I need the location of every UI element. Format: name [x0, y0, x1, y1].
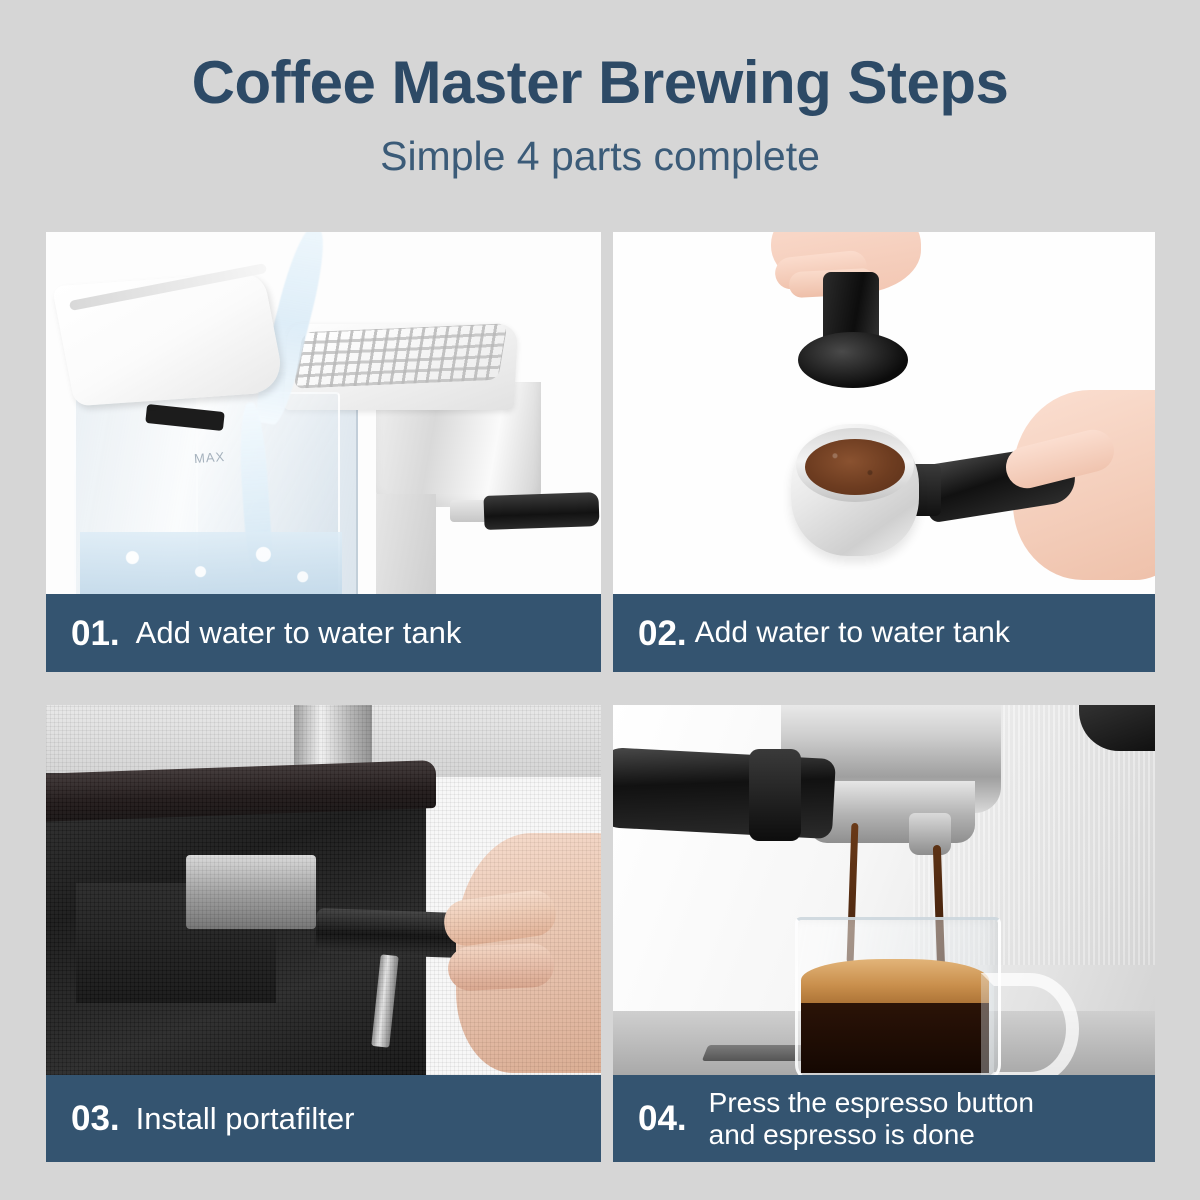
- infographic-page: Coffee Master Brewing Steps Simple 4 par…: [0, 0, 1200, 1200]
- step-number-03: 03.: [71, 1101, 120, 1136]
- step-text-04-line-2: and espresso is done: [709, 1119, 975, 1150]
- step-photo-03: [46, 705, 601, 1075]
- step-number-01: 01.: [71, 616, 120, 651]
- step-text-04: Press the espresso button and espresso i…: [709, 1087, 1155, 1150]
- header: Coffee Master Brewing Steps Simple 4 par…: [0, 0, 1200, 210]
- crema-layer: [801, 959, 989, 1007]
- espresso-liquid: [801, 1003, 989, 1073]
- portafilter-handle-icon: [613, 747, 836, 839]
- step-caption-03: 03. Install portafilter: [46, 1075, 601, 1162]
- step-number-02: 02.: [638, 616, 687, 651]
- step-card-02[interactable]: 02. Add water to water tank: [613, 232, 1155, 672]
- portafilter-spout-icon: [909, 813, 951, 855]
- cup-warming-grill-icon: [293, 323, 507, 388]
- tamper-base-icon: [798, 332, 908, 388]
- step-photo-02: [613, 232, 1155, 594]
- step-text-03: Install portafilter: [136, 1102, 601, 1135]
- page-title: Coffee Master Brewing Steps: [0, 53, 1200, 113]
- portafilter-handle-icon: [483, 492, 599, 530]
- step-caption-01: 01. Add water to water tank: [46, 594, 601, 672]
- step-card-03[interactable]: 03. Install portafilter: [46, 705, 601, 1162]
- water-pool: [80, 532, 342, 594]
- step-text-01: Add water to water tank: [136, 616, 601, 649]
- step-card-04[interactable]: 04. Press the espresso button and espres…: [613, 705, 1155, 1162]
- step-caption-04: 04. Press the espresso button and espres…: [613, 1075, 1155, 1162]
- step-caption-02: 02. Add water to water tank: [613, 594, 1155, 672]
- machine-body-lower: [376, 494, 436, 594]
- step-card-01[interactable]: MAX 01. Add water to water tank: [46, 232, 601, 672]
- max-level-marking: MAX: [194, 449, 226, 466]
- step-photo-01: MAX: [46, 232, 601, 594]
- cup-handle-icon: [981, 973, 1079, 1075]
- group-head-icon: [186, 855, 316, 929]
- coffee-grounds-icon: [805, 439, 905, 495]
- step-photo-04: [613, 705, 1155, 1075]
- portafilter-collar: [749, 749, 801, 841]
- steps-grid: MAX 01. Add water to water tank: [46, 232, 1155, 1162]
- step-text-04-line-1: Press the espresso button: [709, 1087, 1034, 1118]
- step-text-02: Add water to water tank: [695, 617, 1155, 649]
- step-number-04: 04.: [638, 1101, 687, 1136]
- page-subtitle: Simple 4 parts complete: [0, 136, 1200, 177]
- finger-icon: [447, 942, 555, 991]
- tank-lid-icon: [52, 272, 286, 407]
